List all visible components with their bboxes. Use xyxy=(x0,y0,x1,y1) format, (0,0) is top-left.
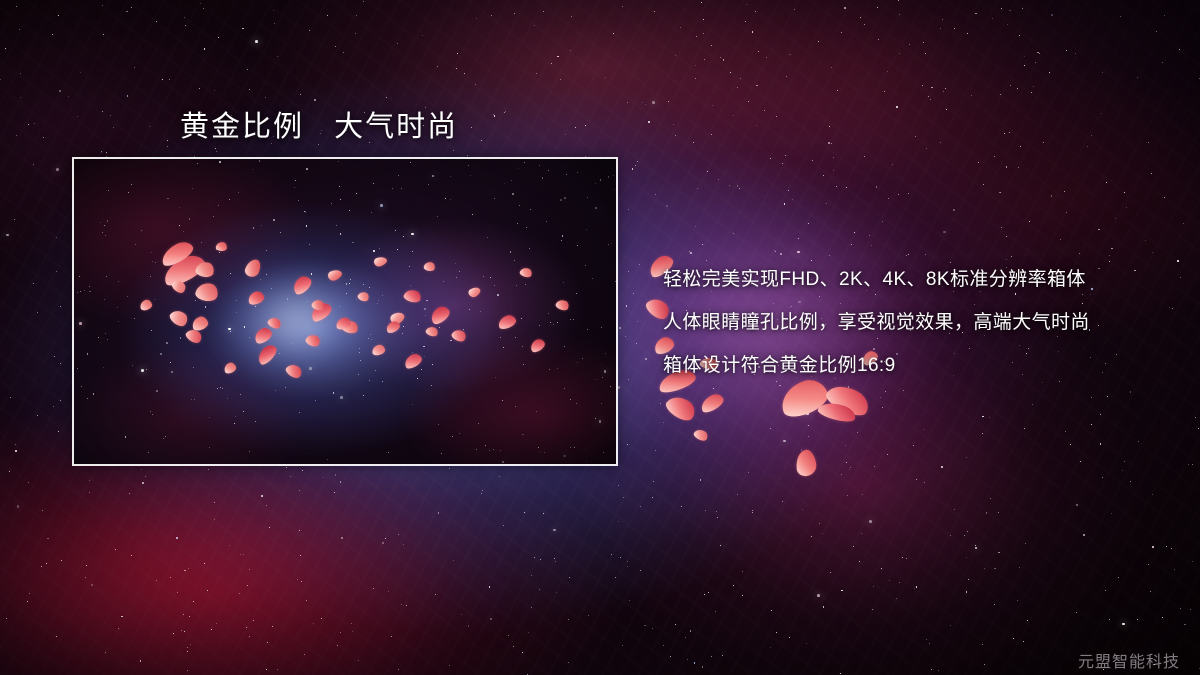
petal xyxy=(184,326,204,345)
petal xyxy=(528,337,546,354)
petal xyxy=(467,285,482,299)
petal xyxy=(290,273,314,297)
petal xyxy=(194,260,215,279)
petal xyxy=(428,304,452,327)
petal xyxy=(555,298,571,312)
petal xyxy=(158,238,196,269)
petal xyxy=(698,391,726,415)
petal xyxy=(519,266,533,279)
watermark: 元盟智能科技 xyxy=(1078,648,1180,672)
petal xyxy=(496,313,517,330)
petal xyxy=(311,298,326,312)
petal xyxy=(170,278,188,296)
petal xyxy=(450,327,468,343)
petal xyxy=(692,427,709,443)
petal xyxy=(373,255,388,268)
petal xyxy=(403,288,423,305)
petal xyxy=(215,241,227,252)
body-text-block: 轻松完美实现FHD、2K、4K、8K标准分辨率箱体 人体眼睛瞳孔比例，享受视觉效… xyxy=(663,258,1163,387)
body-line-1: 轻松完美实现FHD、2K、4K、8K标准分辨率箱体 xyxy=(663,258,1163,301)
body-line-2: 人体眼睛瞳孔比例，享受视觉效果，高端大气时尚 xyxy=(663,301,1163,344)
petal xyxy=(423,261,436,272)
petal xyxy=(357,290,371,303)
petal xyxy=(385,320,402,335)
petal xyxy=(663,391,699,425)
presentation-slide: 黄金比例 大气时尚 轻松完美实现FHD、2K、4K、8K标准分辨率箱体 人体眼睛… xyxy=(0,0,1200,675)
petal xyxy=(335,317,352,331)
page-title: 黄金比例 大气时尚 xyxy=(180,103,458,145)
body-line-3: 箱体设计符合黄金比例16:9 xyxy=(663,344,1163,387)
petal xyxy=(794,449,817,478)
petal xyxy=(327,268,344,283)
petal xyxy=(139,299,153,312)
petal xyxy=(266,315,282,330)
petal xyxy=(247,290,266,306)
petal xyxy=(255,342,280,367)
